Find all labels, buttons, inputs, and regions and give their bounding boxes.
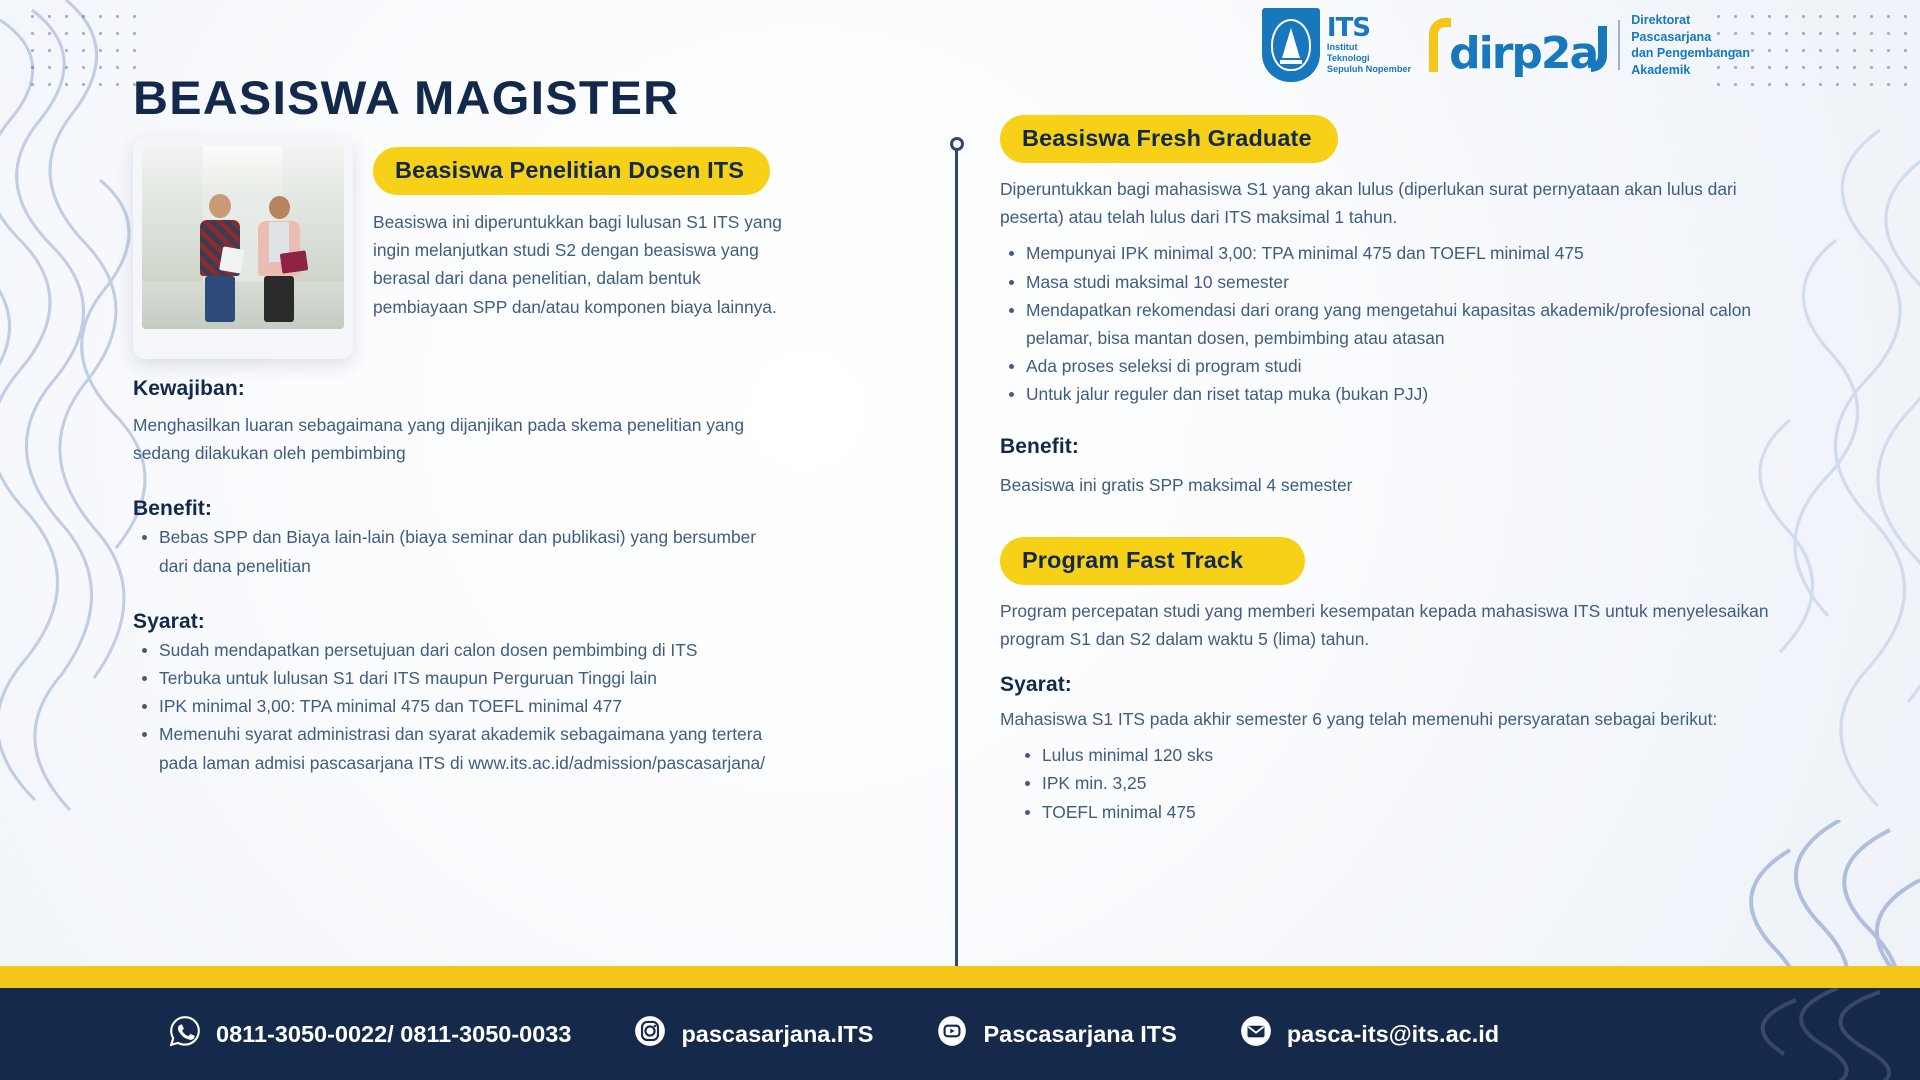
poster-canvas: ITS Institut Teknologi Sepuluh Nopember … xyxy=(0,0,1920,1080)
badge-beasiswa-penelitian-dosen: Beasiswa Penelitian Dosen ITS xyxy=(373,147,770,195)
dot-grid-top-left xyxy=(24,8,144,86)
its-acronym: ITS xyxy=(1327,15,1411,41)
student-figure-right xyxy=(255,196,303,322)
list-item: Masa studi maksimal 10 semester xyxy=(1000,268,1770,296)
footer-email-label: pasca-its@its.ac.id xyxy=(1287,1021,1499,1048)
footer-whatsapp-label: 0811-3050-0022/ 0811-3050-0033 xyxy=(216,1021,571,1048)
benefit-heading-left: Benefit: xyxy=(133,497,783,521)
footer-email[interactable]: pasca-its@its.ac.id xyxy=(1239,1014,1499,1054)
kewajiban-heading: Kewajiban: xyxy=(133,377,783,401)
fast-track-syarat-intro: Mahasiswa S1 ITS pada akhir semester 6 y… xyxy=(1000,705,1770,733)
syarat-heading-left: Syarat: xyxy=(133,610,783,634)
content-columns: Beasiswa Penelitian Dosen ITS Beasiswa i… xyxy=(0,115,1920,960)
footer-accent-strip xyxy=(0,966,1920,988)
list-item: Terbuka untuk lulusan S1 dari ITS maupun… xyxy=(133,664,783,692)
list-item: Ada proses seleksi di program studi xyxy=(1000,352,1770,380)
its-logo: ITS Institut Teknologi Sepuluh Nopember xyxy=(1262,8,1411,82)
right-column: Beasiswa Fresh Graduate Diperuntukkan ba… xyxy=(1000,115,1770,826)
badge-beasiswa-fresh-graduate: Beasiswa Fresh Graduate xyxy=(1000,115,1338,163)
timeline-divider xyxy=(955,147,958,970)
its-sub-line-3: Sepuluh Nopember xyxy=(1327,64,1411,75)
students-photo-card xyxy=(133,137,353,359)
dirp2a-logo: dirp2a Direktorat Pascasarjana dan Penge… xyxy=(1429,12,1750,78)
left-column-details: Kewajiban: Menghasilkan luaran sebagaima… xyxy=(133,377,783,777)
list-item: Lulus minimal 120 sks xyxy=(1016,741,1770,769)
fast-track-intro: Program percepatan studi yang memberi ke… xyxy=(1000,597,1770,653)
kewajiban-text: Menghasilkan luaran sebagaimana yang dij… xyxy=(133,411,783,467)
its-sub-line-1: Institut xyxy=(1327,42,1411,53)
dirp-sub-line-3: dan Pengembangan xyxy=(1631,45,1750,62)
dirp-sub-line-2: Pascasarjana xyxy=(1631,29,1750,46)
list-item: Mempunyai IPK minimal 3,00: TPA minimal … xyxy=(1000,239,1770,267)
its-shield-icon xyxy=(1262,8,1320,82)
penelitian-dosen-intro: Beasiswa ini diperuntukkan bagi lulusan … xyxy=(373,208,783,321)
list-item: Sudah mendapatkan persetujuan dari calon… xyxy=(133,636,783,664)
kewajiban-block: Kewajiban: Menghasilkan luaran sebagaima… xyxy=(133,377,783,467)
timeline-node-top xyxy=(950,137,964,151)
whatsapp-icon xyxy=(168,1014,202,1054)
benefit-list-left: Bebas SPP dan Biaya lain-lain (biaya sem… xyxy=(133,523,783,579)
footer-bar: 0811-3050-0022/ 0811-3050-0033 pascasarj… xyxy=(0,988,1920,1080)
dirp-sub-line-1: Direktorat xyxy=(1631,12,1750,29)
fresh-graduate-list: Mempunyai IPK minimal 3,00: TPA minimal … xyxy=(1000,239,1770,408)
logo-bar: ITS Institut Teknologi Sepuluh Nopember … xyxy=(1262,8,1750,82)
badge-program-fast-track: Program Fast Track xyxy=(1000,537,1305,585)
list-item: Untuk jalur reguler dan riset tatap muka… xyxy=(1000,380,1770,408)
dirp2a-wordmark: dirp2a xyxy=(1449,36,1597,72)
footer-whatsapp[interactable]: 0811-3050-0022/ 0811-3050-0033 xyxy=(168,1014,571,1054)
benefit-text-right: Beasiswa ini gratis SPP maksimal 4 semes… xyxy=(1000,471,1770,499)
footer-instagram-label: pascasarjana.ITS xyxy=(681,1021,873,1048)
fresh-graduate-intro: Diperuntukkan bagi mahasiswa S1 yang aka… xyxy=(1000,175,1770,231)
syarat-block-left: Syarat: Sudah mendapatkan persetujuan da… xyxy=(133,610,783,777)
list-item: IPK min. 3,25 xyxy=(1016,769,1770,797)
syarat-list-left: Sudah mendapatkan persetujuan dari calon… xyxy=(133,636,783,777)
students-photo xyxy=(142,146,344,329)
benefit-heading-right: Benefit: xyxy=(1000,435,1770,459)
fast-track-syarat-list: Lulus minimal 120 sks IPK min. 3,25 TOEF… xyxy=(1016,741,1770,826)
instagram-icon xyxy=(633,1014,667,1054)
footer-youtube-label: Pascasarjana ITS xyxy=(983,1021,1176,1048)
its-wordmark: ITS Institut Teknologi Sepuluh Nopember xyxy=(1327,15,1411,76)
its-sub-line-2: Teknologi xyxy=(1327,53,1411,64)
syarat-heading-right: Syarat: xyxy=(1000,673,1770,697)
dirp-sub-line-4: Akademik xyxy=(1631,62,1750,79)
dirp2a-mark-icon: dirp2a xyxy=(1429,18,1607,72)
list-item: IPK minimal 3,00: TPA minimal 475 dan TO… xyxy=(133,692,783,720)
fresh-graduate-block: Beasiswa Fresh Graduate Diperuntukkan ba… xyxy=(1000,115,1770,499)
dirp2a-subtitle: Direktorat Pascasarjana dan Pengembangan… xyxy=(1631,12,1750,78)
list-item: Memenuhi syarat administrasi dan syarat … xyxy=(133,720,783,776)
logo-divider xyxy=(1618,20,1620,70)
list-item: Mendapatkan rekomendasi dari orang yang … xyxy=(1000,296,1770,352)
penelitian-dosen-block: Beasiswa Penelitian Dosen ITS Beasiswa i… xyxy=(373,147,783,321)
list-item: TOEFL minimal 475 xyxy=(1016,798,1770,826)
student-figure-left xyxy=(197,194,243,322)
list-item: Bebas SPP dan Biaya lain-lain (biaya sem… xyxy=(133,523,783,579)
footer-youtube[interactable]: Pascasarjana ITS xyxy=(935,1014,1176,1054)
footer-instagram[interactable]: pascasarjana.ITS xyxy=(633,1014,873,1054)
benefit-block-left: Benefit: Bebas SPP dan Biaya lain-lain (… xyxy=(133,497,783,579)
fast-track-block: Program Fast Track Program percepatan st… xyxy=(1000,537,1770,826)
email-icon xyxy=(1239,1014,1273,1054)
youtube-icon xyxy=(935,1014,969,1054)
